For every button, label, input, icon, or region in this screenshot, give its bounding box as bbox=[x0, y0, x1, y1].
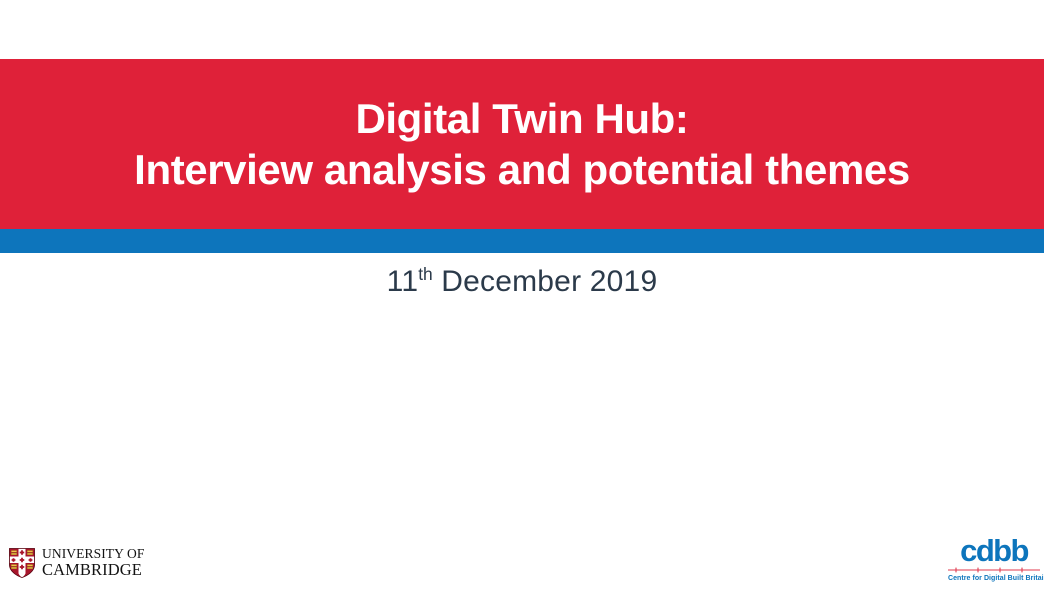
cdbb-logo: cdbb Centre for Digital Built Britain bbox=[948, 536, 1040, 583]
presentation-date: 11th December 2019 bbox=[387, 264, 658, 300]
date-day: 11 bbox=[387, 265, 419, 298]
title-banner: Digital Twin Hub: Interview analysis and… bbox=[0, 59, 1044, 229]
subtitle-row: 11th December 2019 bbox=[0, 264, 1044, 300]
date-ordinal-suffix: th bbox=[418, 264, 433, 284]
cambridge-wordmark-line-2: CAMBRIDGE bbox=[42, 562, 144, 579]
cdbb-wordmark: cdbb bbox=[948, 536, 1040, 566]
cambridge-crest-icon bbox=[9, 548, 35, 578]
accent-bar bbox=[0, 229, 1044, 253]
cdbb-tagline: Centre for Digital Built Britain bbox=[948, 574, 1040, 583]
slide-canvas: Digital Twin Hub: Interview analysis and… bbox=[0, 0, 1044, 608]
page-title-line-2: Interview analysis and potential themes bbox=[134, 145, 910, 195]
cambridge-wordmark: UNIVERSITY OF CAMBRIDGE bbox=[42, 547, 144, 578]
university-of-cambridge-logo: UNIVERSITY OF CAMBRIDGE bbox=[9, 547, 144, 578]
page-title-line-1: Digital Twin Hub: bbox=[355, 94, 688, 144]
date-month-year: December 2019 bbox=[433, 265, 658, 298]
cambridge-wordmark-line-1: UNIVERSITY OF bbox=[42, 547, 144, 561]
